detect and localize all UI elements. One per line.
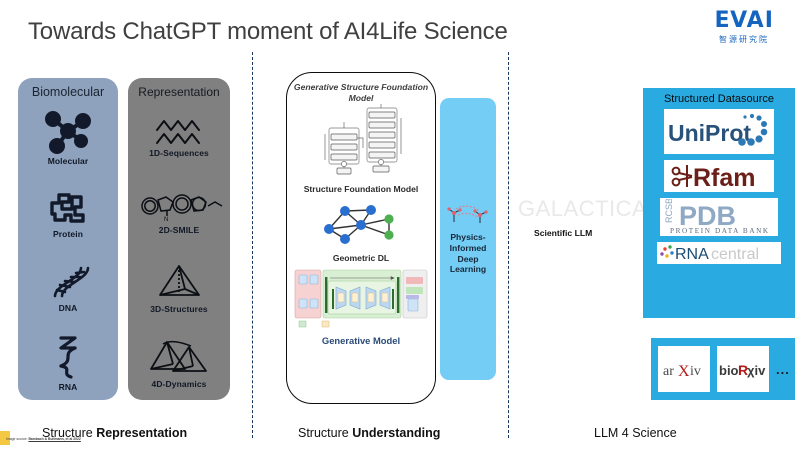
rfam-text: Rfam <box>693 164 756 191</box>
baai-logo: ƎVAI 智源研究院 <box>702 10 786 45</box>
arxiv-logo: ar X iv <box>658 346 710 392</box>
card-title: Generative Structure Foundation Model <box>287 82 435 103</box>
panel-biomolecular-header: Biomolecular <box>32 85 104 99</box>
pyramid-icon <box>155 262 203 302</box>
physics-label: Physics-Informed Deep Learning <box>446 232 490 275</box>
credit-prefix: Image source: <box>6 437 28 441</box>
divider-right <box>508 52 509 438</box>
rfam-logo: Rfam <box>664 160 774 192</box>
item-label: 2D-SMILE <box>159 225 199 235</box>
papers-ellipsis: ... <box>776 362 790 377</box>
molecular-dynamics-icon <box>446 203 490 229</box>
arxiv-prefix: ar <box>663 364 674 379</box>
figure-caption: Generative Model <box>322 335 400 346</box>
caption-prefix: Structure <box>298 426 352 440</box>
dna-helix-icon <box>45 263 91 301</box>
item-label: 3D-Structures <box>150 304 208 314</box>
panel-biomolecular: Biomolecular Molecular Protein <box>18 78 118 400</box>
item-label: Protein <box>53 229 83 239</box>
page-title: Towards ChatGPT moment of AI4Life Scienc… <box>28 18 508 46</box>
slide-root: Towards ChatGPT moment of AI4Life Scienc… <box>0 0 800 450</box>
item-molecular: Molecular <box>18 101 118 176</box>
biorxiv-suffix: χiv <box>747 363 766 378</box>
uniprot-logo: UniProt <box>664 109 774 154</box>
svg-text:N: N <box>164 217 168 223</box>
figure-caption: Geometric DL <box>333 253 389 263</box>
protein-chain-icon <box>45 187 91 227</box>
item-label: DNA <box>59 303 78 313</box>
molecule-icon <box>45 110 91 154</box>
baai-mark-e: Ǝ <box>714 10 730 32</box>
item-rna: RNA <box>18 325 118 400</box>
panel-representation-header: Representation <box>138 85 219 99</box>
item-protein: Protein <box>18 176 118 251</box>
panel-representation: Representation 1D-Sequences <box>128 78 230 400</box>
graph-network-diagram <box>315 201 407 251</box>
figure-caption: Structure Foundation Model <box>304 184 419 194</box>
datasource-header: Structured Datasource <box>664 93 774 105</box>
item-2d-smile: N 2D-SMILE <box>128 176 230 251</box>
structured-datasource-panel: Structured Datasource UniProt Rfam <box>643 88 795 318</box>
caption-bold: Representation <box>96 426 187 440</box>
baai-wordmark: ƎVAI <box>702 10 786 32</box>
item-label: 4D-Dynamics <box>152 379 207 389</box>
rnacentral-logo: RNA central <box>657 242 781 264</box>
arxiv-suffix: iv <box>690 364 701 379</box>
biorxiv-prefix: bio <box>719 363 739 378</box>
divider-left <box>252 52 253 438</box>
caption-llm-4-science: LLM 4 Science <box>594 426 677 440</box>
physics-informed-bar: Physics-Informed Deep Learning <box>440 98 496 380</box>
baai-chinese-name: 智源研究院 <box>702 34 786 45</box>
zigzag-lines-icon <box>151 118 207 146</box>
arxiv-x: X <box>678 363 690 380</box>
transformer-architecture-diagram <box>301 104 421 182</box>
item-dna: DNA <box>18 251 118 326</box>
galactica-watermark: GALACTICA <box>518 196 652 222</box>
rna-strand-icon <box>47 334 89 380</box>
double-pyramid-icon <box>149 337 209 377</box>
item-label: RNA <box>59 382 78 392</box>
item-3d-structures: 3D-Structures <box>128 251 230 326</box>
pdb-prefix: RCSB <box>664 199 674 223</box>
chemical-ring-icon: N <box>134 191 224 223</box>
latent-diffusion-diagram <box>294 269 428 331</box>
scientific-llm-label: Scientific LLM <box>534 228 592 238</box>
item-4d-dynamics: 4D-Dynamics <box>128 325 230 400</box>
item-1d-sequences: 1D-Sequences <box>128 101 230 176</box>
biorxiv-logo: bio R χiv <box>717 346 769 392</box>
caption-structure-understanding: Structure Understanding <box>298 426 440 440</box>
image-credit: Image source: Bambach & Bultmann, et al … <box>6 437 81 441</box>
item-label: Molecular <box>48 156 89 166</box>
credit-link: Bambach & Bultmann, et al 2022 <box>28 437 80 441</box>
pdb-subtitle: PROTEIN DATA BANK <box>670 227 770 235</box>
baai-mark-vai: VAI <box>730 8 774 33</box>
item-label: 1D-Sequences <box>149 148 209 158</box>
papers-panel: ar X iv bio R χiv ... <box>651 338 795 400</box>
caption-bold: Understanding <box>352 426 440 440</box>
structure-understanding-card: Generative Structure Foundation Model <box>286 72 436 404</box>
rnacentral-text-secondary: central <box>711 246 759 263</box>
rnacentral-text-primary: RNA <box>675 246 709 263</box>
pdb-logo: RCSB PDB PROTEIN DATA BANK <box>660 198 778 236</box>
